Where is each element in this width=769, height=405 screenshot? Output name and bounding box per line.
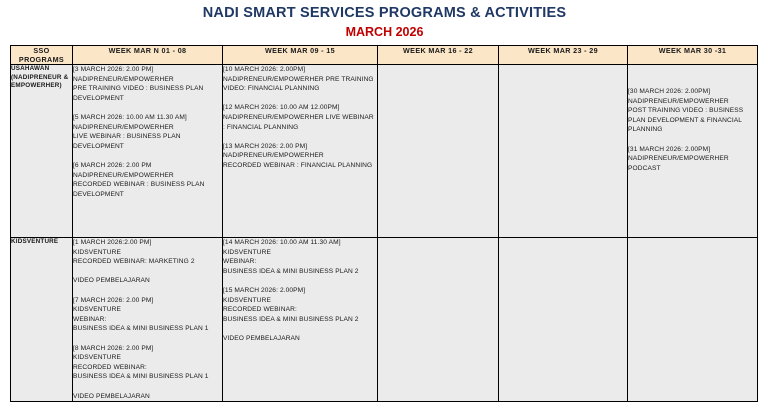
cell-kidsventure-week-5 <box>628 238 758 402</box>
cell-usahawan-week-3 <box>378 65 499 238</box>
cell-kidsventure-week-3 <box>378 238 499 402</box>
schedule-page: NADI SMART SERVICES PROGRAMS & ACTIVITIE… <box>0 0 769 405</box>
column-header-week-1: WEEK MAR N 01 - 08 <box>73 46 223 65</box>
page-subtitle: MARCH 2026 <box>0 24 769 40</box>
row-label-kidsventure: KIDSVENTURE <box>11 238 73 402</box>
column-header-week-2: WEEK MAR 09 - 15 <box>223 46 378 65</box>
table-header: SSO PROGRAMS WEEK MAR N 01 - 08 WEEK MAR… <box>11 46 758 65</box>
cell-kidsventure-week-2: [14 MARCH 2026: 10.00 AM 11.30 AM] KIDSV… <box>223 238 378 402</box>
cell-kidsventure-week-1: [1 MARCH 2026:2.00 PM] KIDSVENTURE RECOR… <box>73 238 223 402</box>
schedule-table-container: SSO PROGRAMS WEEK MAR N 01 - 08 WEEK MAR… <box>10 45 757 402</box>
page-title: NADI SMART SERVICES PROGRAMS & ACTIVITIE… <box>0 4 769 22</box>
cell-usahawan-week-4 <box>499 65 628 238</box>
table-body: USAHAWAN (NADIPRENEUR & EMPOWERHER) [3 M… <box>11 65 758 402</box>
schedule-table: SSO PROGRAMS WEEK MAR N 01 - 08 WEEK MAR… <box>10 45 758 402</box>
document-header: NADI SMART SERVICES PROGRAMS & ACTIVITIE… <box>0 0 769 40</box>
cell-usahawan-week-5: [30 MARCH 2026: 2.00PM] NADIPRENEUR/EMPO… <box>628 65 758 238</box>
cell-usahawan-week-1: [3 MARCH 2026: 2.00 PM] NADIPRENEUR/EMPO… <box>73 65 223 238</box>
column-header-week-5: WEEK MAR 30 -31 <box>628 46 758 65</box>
header-row: SSO PROGRAMS WEEK MAR N 01 - 08 WEEK MAR… <box>11 46 758 65</box>
column-header-sso-programs: SSO PROGRAMS <box>11 46 73 65</box>
column-header-week-4: WEEK MAR 23 - 29 <box>499 46 628 65</box>
column-header-week-3: WEEK MAR 16 - 22 <box>378 46 499 65</box>
table-row: KIDSVENTURE [1 MARCH 2026:2.00 PM] KIDSV… <box>11 238 758 402</box>
table-row: USAHAWAN (NADIPRENEUR & EMPOWERHER) [3 M… <box>11 65 758 238</box>
cell-kidsventure-week-4 <box>499 238 628 402</box>
row-label-usahawan: USAHAWAN (NADIPRENEUR & EMPOWERHER) <box>11 65 73 238</box>
cell-usahawan-week-2: [10 MARCH 2026: 2.00PM] NADIPRENEUR/EMPO… <box>223 65 378 238</box>
